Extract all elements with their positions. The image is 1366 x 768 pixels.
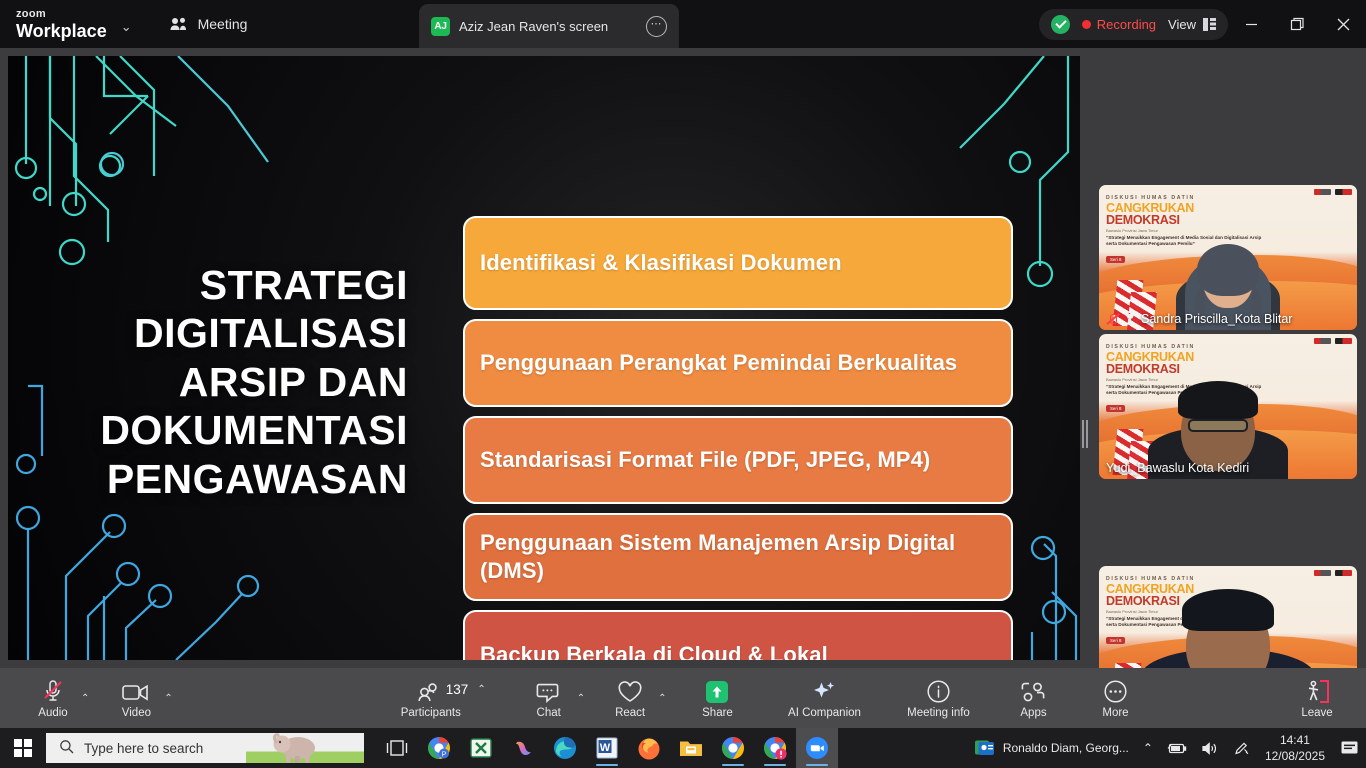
windows-logo-icon: [14, 739, 32, 757]
running-indicator: [722, 764, 744, 767]
more-button[interactable]: More: [1088, 670, 1142, 726]
clock-time: 14:41: [1280, 732, 1310, 748]
slide-box-1: Identifikasi & Klasifikasi Dokumen: [463, 216, 1013, 310]
slide-box-text: Standarisasi Format File (PDF, JPEG, MP4…: [480, 446, 930, 474]
poster-seri-badge: Seri 8: [1106, 637, 1125, 644]
share-label: Share: [702, 707, 733, 719]
tray-app-label: Ronaldo Diam, Georg...: [1003, 741, 1129, 755]
slide-box-text: Penggunaan Perangkat Pemindai Berkualita…: [480, 349, 957, 377]
slide-title: STRATEGI DIGITALISASI ARSIP DAN DOKUMENT…: [18, 261, 408, 503]
poster-seri-badge: Seri 8: [1106, 256, 1125, 263]
search-elephant-illustration: [246, 733, 364, 763]
poster-line-4: Bawaslu Provinsi Jawa Timur: [1106, 228, 1266, 233]
tab-shared-screen[interactable]: AJ Aziz Jean Raven's screen ⋯: [419, 4, 679, 48]
task-view-icon[interactable]: [376, 728, 418, 768]
zoom-logo[interactable]: zoom Workplace: [16, 9, 107, 40]
slide-box-text: Identifikasi & Klasifikasi Dokumen: [480, 249, 842, 277]
participant-name-bar: Sandra Priscilla_Kota Blitar: [1099, 308, 1299, 330]
microphone-muted-icon: [1106, 313, 1119, 326]
apps-icon: [1020, 678, 1046, 704]
leave-door-icon: [1303, 678, 1331, 704]
poster-line-3: DEMOKRASI: [1106, 215, 1266, 227]
participant-gallery: DISKUSI HUMAS DATIN CANGKRUKAN DEMOKRASI…: [1090, 96, 1366, 716]
ellipsis-icon: [1103, 678, 1128, 704]
zoom-wordmark: zoom: [16, 9, 107, 20]
chrome-notification-icon[interactable]: [754, 728, 796, 768]
clock-date: 12/08/2025: [1265, 748, 1325, 764]
presentation-slide: STRATEGI DIGITALISASI ARSIP DAN DOKUMENT…: [8, 56, 1080, 660]
participants-label: Participants: [401, 707, 461, 719]
meeting-tab-label: Meeting: [198, 16, 248, 32]
encryption-shield-icon[interactable]: [1051, 15, 1070, 34]
word-icon[interactable]: W: [586, 728, 628, 768]
minimize-button[interactable]: [1228, 0, 1274, 48]
audio-control-group[interactable]: Audio ⌃: [26, 670, 89, 726]
people-icon: [170, 17, 189, 31]
video-control-group[interactable]: Video ⌃: [109, 670, 172, 726]
restore-button[interactable]: [1274, 0, 1320, 48]
firefox-icon[interactable]: [628, 728, 670, 768]
react-chevron-icon[interactable]: ⌃: [658, 693, 666, 704]
react-label: React: [615, 707, 645, 719]
svg-text:P: P: [442, 751, 447, 758]
audio-options-chevron-icon[interactable]: ⌃: [81, 693, 89, 704]
chat-control-group[interactable]: Chat ⌃: [522, 670, 585, 726]
volume-icon[interactable]: [1194, 728, 1226, 768]
people-icon: [418, 678, 444, 704]
react-control-group[interactable]: React ⌃: [603, 670, 666, 726]
tab-more-icon[interactable]: ⋯: [646, 16, 667, 37]
slide-box-3: Standarisasi Format File (PDF, JPEG, MP4…: [463, 416, 1013, 504]
search-icon: [59, 739, 74, 757]
tray-expand-chevron-icon[interactable]: ⌃: [1136, 728, 1160, 768]
recording-dot-icon: [1082, 20, 1091, 29]
video-button[interactable]: Video: [109, 670, 163, 726]
leave-button[interactable]: Leave: [1290, 670, 1344, 726]
participant-name: Yudi_Bawaslu Kota Kediri: [1106, 461, 1249, 475]
meeting-stage: STRATEGI DIGITALISASI ARSIP DAN DOKUMENT…: [0, 48, 1366, 668]
participants-control-group[interactable]: Participants 137 ⌃: [395, 670, 502, 726]
view-label: View: [1168, 17, 1196, 32]
svg-text:W: W: [600, 742, 611, 754]
participant-tile-2[interactable]: DISKUSI HUMAS DATIN CANGKRUKAN DEMOKRASI…: [1099, 334, 1357, 479]
poster-logos: [1314, 570, 1352, 576]
meeting-info-label: Meeting info: [907, 707, 970, 719]
apps-label: Apps: [1020, 707, 1046, 719]
audio-label: Audio: [38, 707, 67, 719]
poster-logos: [1314, 338, 1352, 344]
leave-label: Leave: [1301, 707, 1332, 719]
participant-name: Sandra Priscilla_Kota Blitar: [1141, 312, 1292, 326]
tab-title: Aziz Jean Raven's screen: [459, 19, 637, 34]
poster-line-3: DEMOKRASI: [1106, 364, 1266, 376]
recording-indicator[interactable]: Recording: [1082, 17, 1156, 32]
slide-box-5: Backup Berkala di Cloud & Lokal: [463, 610, 1013, 660]
avatar: AJ: [431, 17, 450, 36]
title-bar: zoom Workplace ⌄ Meeting AJ Aziz Jean Ra…: [0, 0, 1366, 48]
participants-button[interactable]: Participants: [395, 670, 467, 726]
video-options-chevron-icon[interactable]: ⌃: [164, 693, 172, 704]
taskbar-clock[interactable]: 14:41 12/08/2025: [1257, 732, 1333, 764]
participant-name-bar: Yudi_Bawaslu Kota Kediri: [1099, 457, 1256, 479]
copilot-icon[interactable]: [502, 728, 544, 768]
chrome-beta-icon[interactable]: P: [418, 728, 460, 768]
windows-taskbar: Type here to search P: [0, 728, 1366, 768]
pin-icon: [1124, 313, 1136, 326]
chat-button[interactable]: Chat: [522, 670, 576, 726]
running-indicator: [596, 764, 618, 767]
microphone-muted-icon: [40, 678, 66, 704]
running-indicator: [764, 764, 786, 767]
apps-button[interactable]: Apps: [1006, 670, 1060, 726]
running-indicator: [806, 764, 828, 767]
tray-app-button[interactable]: Ronaldo Diam, Georg...: [967, 728, 1136, 768]
heart-icon: [617, 678, 643, 704]
file-explorer-icon[interactable]: [670, 728, 712, 768]
meeting-info-button[interactable]: Meeting info: [898, 670, 978, 726]
titlebar-right-group: Recording View: [1039, 0, 1366, 48]
slide-box-list: Identifikasi & Klasifikasi Dokumen Pengg…: [463, 216, 1013, 660]
workplace-wordmark: Workplace: [16, 22, 107, 40]
slide-box-text: Penggunaan Sistem Manajemen Arsip Digita…: [480, 529, 995, 585]
chat-bubble-icon: [536, 678, 561, 704]
chrome-icon[interactable]: [712, 728, 754, 768]
search-input[interactable]: Type here to search: [84, 741, 203, 756]
pen-icon[interactable]: [1226, 728, 1257, 768]
ai-companion-button[interactable]: AI Companion: [782, 670, 866, 726]
system-tray: Ronaldo Diam, Georg... ⌃ 14:41 12/08/202…: [967, 728, 1366, 768]
layout-icon: [1203, 18, 1216, 31]
chat-chevron-icon[interactable]: ⌃: [577, 693, 585, 704]
participants-count: 137: [446, 682, 469, 697]
chat-label: Chat: [537, 707, 561, 719]
poster-logos: [1314, 189, 1352, 195]
panel-resize-handle[interactable]: [1082, 420, 1088, 448]
shared-screen-view[interactable]: STRATEGI DIGITALISASI ARSIP DAN DOKUMENT…: [8, 56, 1080, 660]
slide-box-2: Penggunaan Perangkat Pemindai Berkualita…: [463, 319, 1013, 407]
slide-box-text: Backup Berkala di Cloud & Lokal: [480, 641, 828, 660]
status-pill: Recording View: [1039, 9, 1228, 40]
chevron-down-icon[interactable]: ⌄: [121, 19, 132, 35]
share-button[interactable]: Share: [690, 670, 744, 726]
contacts-app-icon: [974, 739, 995, 757]
meeting-tab[interactable]: Meeting: [170, 16, 248, 32]
info-icon: [926, 678, 951, 704]
participant-tile-1[interactable]: DISKUSI HUMAS DATIN CANGKRUKAN DEMOKRASI…: [1099, 185, 1357, 330]
taskbar-search[interactable]: Type here to search: [46, 733, 364, 763]
audio-button[interactable]: Audio: [26, 670, 80, 726]
video-label: Video: [122, 707, 151, 719]
view-button[interactable]: View: [1168, 17, 1216, 32]
excel-icon[interactable]: [460, 728, 502, 768]
poster-seri-badge: Seri 8: [1106, 405, 1125, 412]
sparkle-icon: [811, 678, 837, 704]
slide-box-4: Penggunaan Sistem Manajemen Arsip Digita…: [463, 513, 1013, 601]
react-button[interactable]: React: [603, 670, 657, 726]
zoom-icon[interactable]: [796, 728, 838, 768]
notification-center-icon[interactable]: [1333, 728, 1366, 768]
meeting-control-bar: Audio ⌃ Video ⌃ Participant: [0, 668, 1366, 728]
ai-companion-label: AI Companion: [788, 707, 861, 719]
share-screen-icon: [705, 678, 729, 704]
participants-chevron-icon[interactable]: ⌃: [477, 684, 485, 695]
camera-icon: [121, 678, 151, 704]
edge-icon[interactable]: [544, 728, 586, 768]
close-button[interactable]: [1320, 0, 1366, 48]
recording-label: Recording: [1097, 17, 1156, 32]
battery-icon[interactable]: [1160, 728, 1194, 768]
more-label: More: [1102, 707, 1128, 719]
start-button[interactable]: [0, 728, 46, 768]
